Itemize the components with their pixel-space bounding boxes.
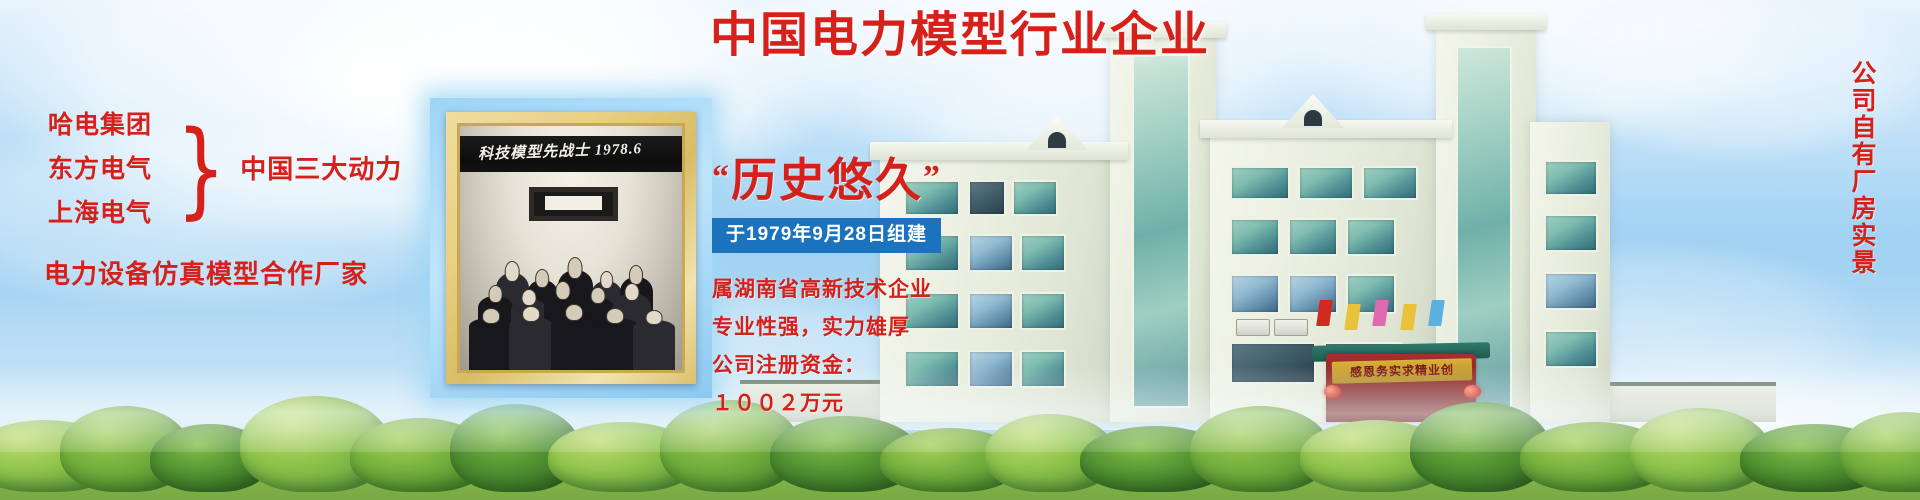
roof-gable <box>1026 116 1088 150</box>
quote-close-mark: ” <box>923 159 942 196</box>
air-conditioner-unit <box>1236 319 1270 336</box>
building-window <box>968 292 1014 330</box>
air-conditioner-unit <box>1274 319 1308 336</box>
banner-title: 中国电力模型行业企业 <box>0 8 1920 64</box>
company-banner: 中国电力模型行业企业 哈电集团 东方电气 上海电气 } 中国三大动力 电力设备仿… <box>0 0 1920 500</box>
left-text-block: 哈电集团 东方电气 上海电气 } 中国三大动力 电力设备仿真模型合作厂家 <box>44 110 414 290</box>
description-line: 属湖南省高新技术企业 <box>712 271 942 309</box>
gold-frame: 科技模型先战士 1978.6 <box>446 112 696 384</box>
roof-gable <box>1282 94 1344 128</box>
building-window <box>1230 218 1280 256</box>
vertical-caption: 公司自有厂房实景 <box>1840 60 1884 400</box>
building-window <box>968 234 1014 272</box>
building-window <box>1544 214 1598 252</box>
tree-line <box>0 380 1920 500</box>
quote-main-text: 历史悠久 <box>731 154 923 206</box>
building-window <box>1298 166 1354 200</box>
vintage-photo-frame: 科技模型先战士 1978.6 <box>430 98 712 398</box>
three-powers-row: 哈电集团 东方电气 上海电气 } 中国三大动力 <box>44 110 414 228</box>
photo-banner: 科技模型先战士 1978.6 <box>460 136 682 173</box>
tree <box>1840 412 1920 492</box>
description-line: 公司注册资金： <box>712 347 942 385</box>
building-window <box>1544 160 1598 196</box>
building-window <box>1544 272 1598 310</box>
building-window <box>1544 330 1598 368</box>
vintage-group-photo: 科技模型先战士 1978.6 <box>460 126 682 370</box>
three-powers-label: 中国三大动力 <box>240 154 402 184</box>
photo-person <box>593 318 637 370</box>
founding-date-badge: 于1979年9月28日组建 <box>712 218 941 253</box>
stairwell-glazing <box>1132 54 1190 408</box>
photo-people <box>460 209 682 370</box>
brace-icon: } <box>176 117 226 221</box>
building-window <box>1230 342 1316 384</box>
center-text-block: “历史悠久” 于1979年9月28日组建 属湖南省高新技术企业 专业性强，实力雄… <box>712 150 942 423</box>
building-window <box>1020 234 1066 272</box>
frame-inner: 科技模型先战士 1978.6 <box>457 123 685 373</box>
photo-person <box>633 320 675 370</box>
building-window <box>1012 180 1058 216</box>
partner-item: 上海电气 <box>48 198 152 228</box>
building-window <box>1230 274 1280 314</box>
history-quote: “历史悠久” <box>712 150 942 208</box>
building-window <box>1020 292 1066 330</box>
building-window <box>1230 166 1290 200</box>
photo-person <box>469 318 513 370</box>
partner-item: 东方电气 <box>48 154 152 184</box>
building-window <box>1362 166 1418 200</box>
photo-person <box>551 315 598 370</box>
building-window <box>968 180 1006 216</box>
description-line: 专业性强，实力雄厚 <box>712 309 942 347</box>
partner-item: 哈电集团 <box>48 110 152 140</box>
description-line: １００２万元 <box>712 385 942 423</box>
quote-open-mark: “ <box>712 159 731 196</box>
photo-banner-text: 科技模型先战士 1978.6 <box>477 137 642 164</box>
partner-list: 哈电集团 东方电气 上海电气 <box>44 110 152 228</box>
partner-tagline: 电力设备仿真模型合作厂家 <box>44 258 414 290</box>
photo-person <box>509 317 553 370</box>
building-window <box>1288 218 1338 256</box>
building-window <box>1346 218 1396 256</box>
factory-building: 感恩务实求精业创 <box>880 22 1600 422</box>
company-description: 属湖南省高新技术企业 专业性强，实力雄厚 公司注册资金： １００２万元 <box>712 271 942 423</box>
